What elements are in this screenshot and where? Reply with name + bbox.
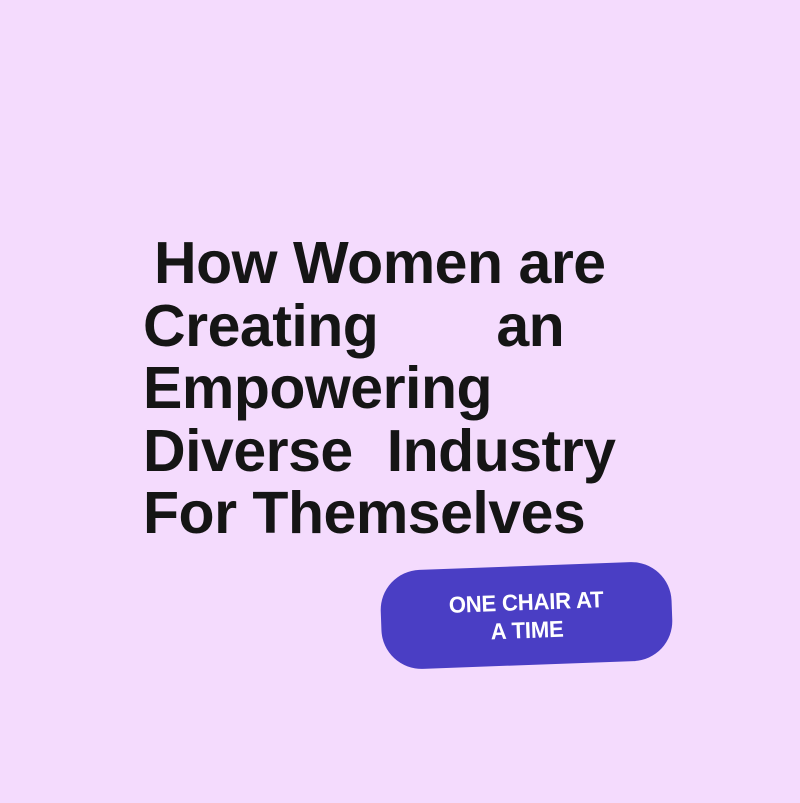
headline-line-5: For Themselves [143, 482, 666, 545]
headline-line-3: Empowering [143, 357, 666, 420]
headline-word: Women [293, 230, 502, 296]
headline-line-4: DiverseIndustry [143, 420, 666, 483]
poster-canvas: HowWomenare Creatingan Empowering Divers… [0, 0, 800, 803]
headline-word: How [154, 230, 277, 296]
tagline-badge-label: ONE CHAIR AT A TIME [448, 585, 605, 647]
headline-line-2: Creatingan [143, 295, 666, 358]
headline-line-1: HowWomenare [143, 232, 666, 295]
tagline-badge[interactable]: ONE CHAIR AT A TIME [379, 561, 673, 671]
headline-word: Diverse [143, 418, 353, 484]
headline-word: an [496, 293, 564, 359]
headline-word: Industry [387, 418, 616, 484]
tagline-badge-line-1: ONE CHAIR AT [448, 585, 604, 619]
headline-word: are [519, 230, 606, 296]
tagline-badge-line-2: A TIME [449, 613, 605, 647]
headline-word: Creating [143, 293, 378, 359]
page-title: HowWomenare Creatingan Empowering Divers… [143, 232, 666, 545]
headline-word: Empowering [143, 355, 492, 421]
